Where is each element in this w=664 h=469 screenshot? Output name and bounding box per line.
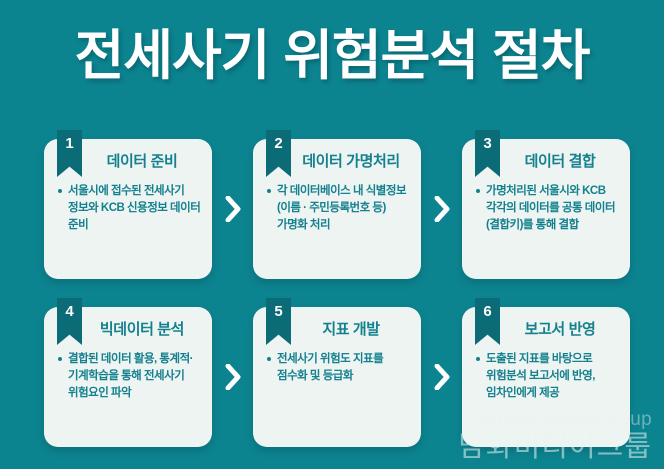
step-number: 2 — [266, 136, 291, 152]
step-title: 보고서 반영 — [498, 320, 622, 340]
step-body: 서울시에 접수된 전세사기 정보와 KCB 신용정보 데이터 준비 — [56, 183, 204, 234]
chevron-right-icon — [225, 364, 241, 390]
step-body: 도출된 지표를 바탕으로 위험분석 보고서에 반영, 임차인에게 제공 — [474, 351, 622, 402]
step-body: 전세사기 위험도 지표를 점수화 및 등급화 — [265, 351, 413, 385]
step-card-6[interactable]: 6 보고서 반영 도출된 지표를 바탕으로 위험분석 보고서에 반영, 임차인에… — [462, 307, 630, 447]
step-description: 가명처리된 서울시와 KCB 각각의 데이터를 공통 데이터(결합키)를 통해 … — [486, 183, 622, 234]
step-card-1[interactable]: 1 데이터 준비 서울시에 접수된 전세사기 정보와 KCB 신용정보 데이터 … — [44, 139, 212, 279]
ribbon-badge-icon: 2 — [266, 130, 291, 177]
process-steps-row-top: 1 데이터 준비 서울시에 접수된 전세사기 정보와 KCB 신용정보 데이터 … — [44, 139, 630, 279]
ribbon-badge-icon: 5 — [266, 298, 291, 345]
ribbon-badge-icon: 1 — [57, 130, 82, 177]
process-steps-row-bottom: 4 빅데이터 분석 결합된 데이터 활용, 통계적·기계학습을 통해 전세사기 … — [44, 307, 630, 447]
bullet-dot-icon — [58, 189, 62, 193]
step-description: 서울시에 접수된 전세사기 정보와 KCB 신용정보 데이터 준비 — [68, 183, 204, 234]
ribbon-badge-icon: 4 — [57, 298, 82, 345]
step-title: 데이터 가명처리 — [289, 152, 413, 172]
chevron-right-icon — [225, 196, 241, 222]
step-description: 전세사기 위험도 지표를 점수화 및 등급화 — [277, 351, 413, 385]
step-title: 지표 개발 — [289, 320, 413, 340]
step-description: 결합된 데이터 활용, 통계적·기계학습을 통해 전세사기 위험요인 파악 — [68, 351, 204, 402]
chevron-right-icon — [434, 364, 450, 390]
bullet-dot-icon — [267, 189, 271, 193]
step-card-3[interactable]: 3 데이터 결합 가명처리된 서울시와 KCB 각각의 데이터를 공통 데이터(… — [462, 139, 630, 279]
step-body: 가명처리된 서울시와 KCB 각각의 데이터를 공통 데이터(결합키)를 통해 … — [474, 183, 622, 234]
bullet-dot-icon — [58, 357, 62, 361]
step-connector-1 — [212, 139, 253, 279]
step-number: 5 — [266, 304, 291, 320]
step-description: 각 데이터베이스 내 식별정보(이름 · 주민등록번호 등) 가명화 처리 — [277, 183, 413, 234]
step-number: 6 — [475, 304, 500, 320]
step-card-5[interactable]: 5 지표 개발 전세사기 위험도 지표를 점수화 및 등급화 — [253, 307, 421, 447]
step-body: 결합된 데이터 활용, 통계적·기계학습을 통해 전세사기 위험요인 파악 — [56, 351, 204, 402]
step-number: 4 — [57, 304, 82, 320]
bullet-dot-icon — [476, 189, 480, 193]
step-card-4[interactable]: 4 빅데이터 분석 결합된 데이터 활용, 통계적·기계학습을 통해 전세사기 … — [44, 307, 212, 447]
ribbon-badge-icon: 3 — [475, 130, 500, 177]
ribbon-badge-icon: 6 — [475, 298, 500, 345]
step-description: 도출된 지표를 바탕으로 위험분석 보고서에 반영, 임차인에게 제공 — [486, 351, 622, 402]
step-number: 1 — [57, 136, 82, 152]
step-body: 각 데이터베이스 내 식별정보(이름 · 주민등록번호 등) 가명화 처리 — [265, 183, 413, 234]
step-title: 데이터 준비 — [80, 152, 204, 172]
step-connector-2 — [421, 139, 462, 279]
page-title: 전세사기 위험분석 절차 — [0, 24, 664, 88]
step-connector-3 — [212, 307, 253, 447]
bullet-dot-icon — [476, 357, 480, 361]
step-title: 데이터 결합 — [498, 152, 622, 172]
step-connector-4 — [421, 307, 462, 447]
chevron-right-icon — [434, 196, 450, 222]
bullet-dot-icon — [267, 357, 271, 361]
page-title-text: 전세사기 위험분석 절차 — [75, 24, 590, 88]
infographic-canvas: 전세사기 위험분석 절차 1 데이터 준비 서울시에 접수된 전세사기 정보와 … — [0, 0, 664, 469]
step-title: 빅데이터 분석 — [80, 320, 204, 340]
step-number: 3 — [475, 136, 500, 152]
step-card-2[interactable]: 2 데이터 가명처리 각 데이터베이스 내 식별정보(이름 · 주민등록번호 등… — [253, 139, 421, 279]
process-steps-grid: 1 데이터 준비 서울시에 접수된 전세사기 정보와 KCB 신용정보 데이터 … — [44, 139, 630, 447]
